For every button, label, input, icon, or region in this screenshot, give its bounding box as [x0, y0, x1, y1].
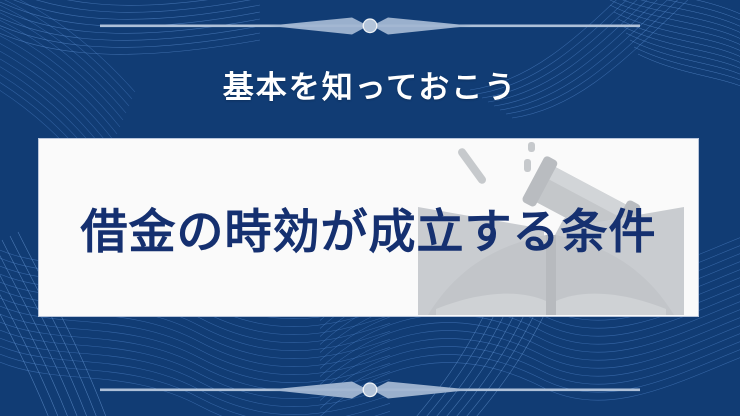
title-card: 借金の時効が成立する条件 [38, 138, 699, 317]
ornament-divider-top [0, 13, 740, 39]
ornament-divider-bottom [0, 377, 740, 403]
slide-subtitle: 基本を知っておこう [0, 62, 740, 107]
slide-title: 借金の時効が成立する条件 [39, 139, 698, 316]
slide-canvas: 基本を知っておこう [0, 0, 740, 416]
